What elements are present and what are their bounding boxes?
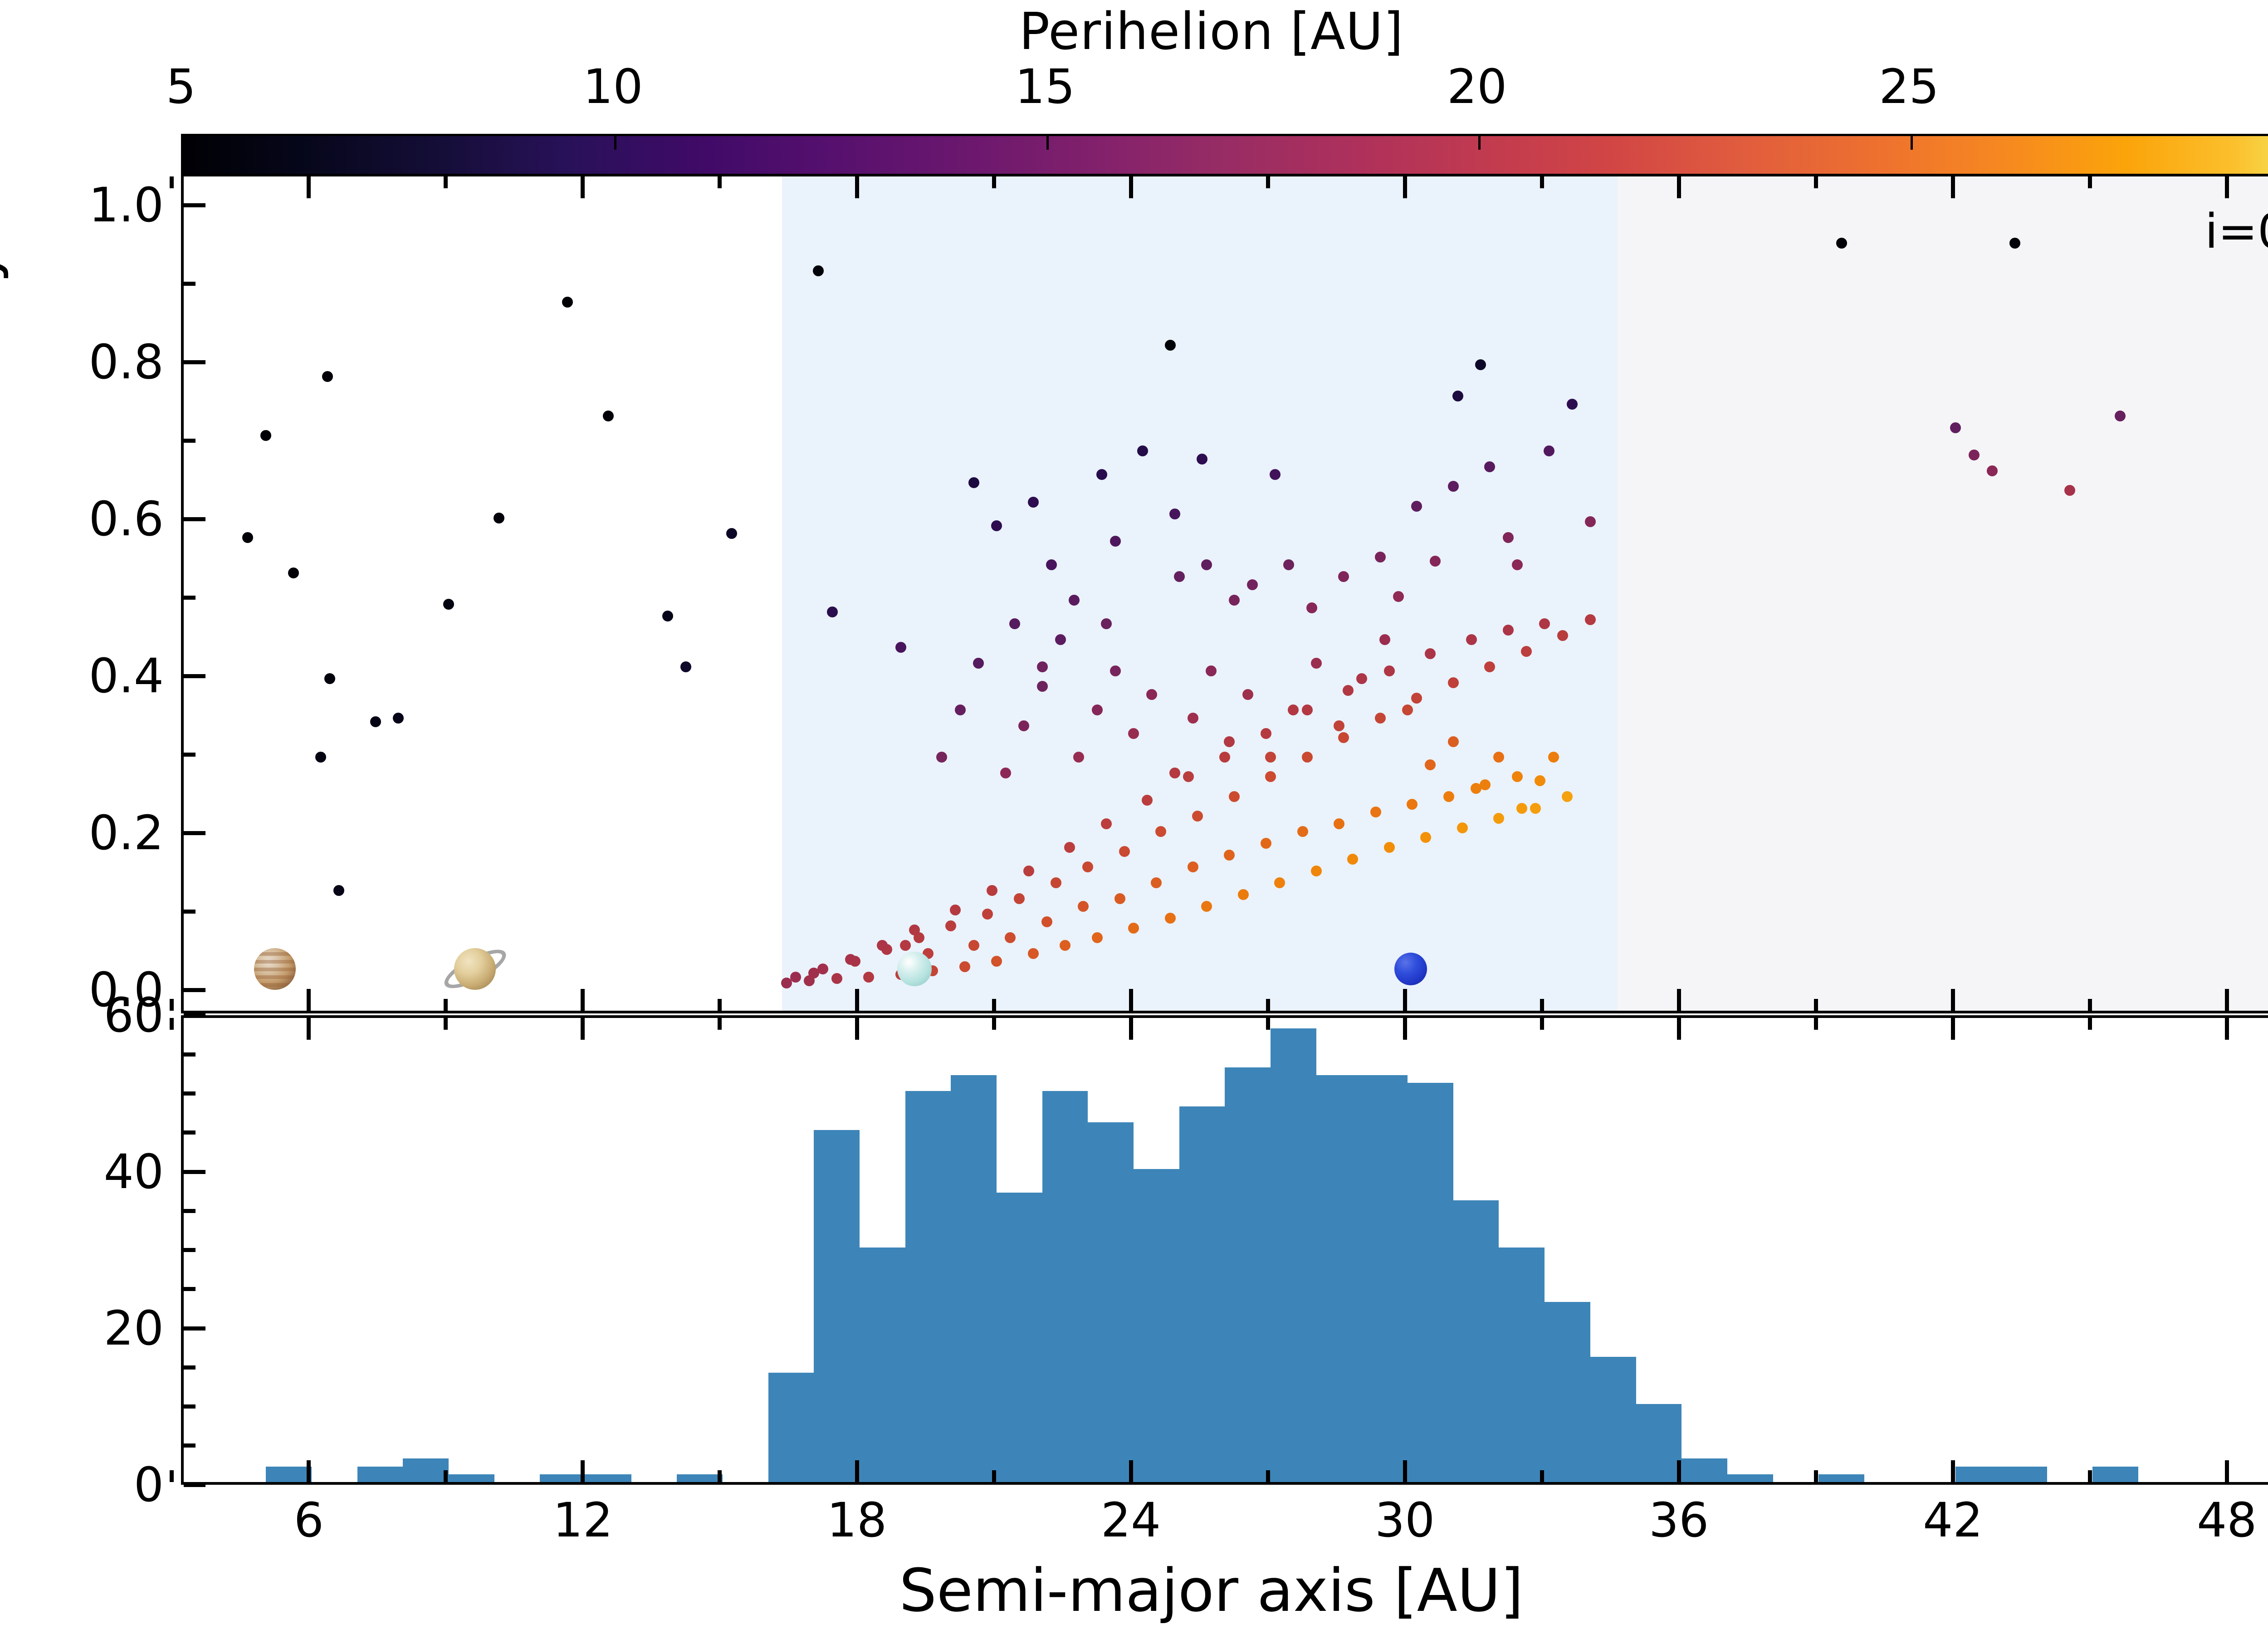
scatter-point [1165,340,1176,351]
scatter-point [1206,665,1217,676]
scatter-point [1092,704,1103,715]
tick-mark [1403,989,1407,1011]
tick-mark [1677,1460,1681,1482]
scatter-point [1169,509,1180,519]
scatter-point [1567,399,1578,410]
scatter-point [1261,838,1271,849]
scatter-point [1114,893,1125,904]
scatter-point [1023,866,1034,876]
xtick-label: 24 [1101,1492,1161,1548]
scatter-point [2064,485,2075,496]
histogram-bar [540,1474,586,1482]
tick-mark [307,176,311,198]
tick-mark [184,674,205,678]
scatter-point [562,297,573,308]
tick-mark [2088,1470,2092,1482]
histogram-bar [586,1474,631,1482]
scatter-point [1028,948,1039,959]
tick-mark [1540,999,1544,1011]
figure-root: Perihelion [AU] 51015202530 Eccentricity… [0,0,2268,1634]
scatter-point [1137,445,1148,456]
scatter-point [1411,501,1422,512]
scatter-point [1069,595,1080,606]
scatter-point [973,658,984,669]
histogram-bar [951,1075,997,1482]
histogram-bar [2001,1467,2047,1482]
histogram-bar [1134,1169,1179,1482]
histogram-bar [1225,1067,1271,1482]
scatter-point [1425,759,1436,770]
tick-mark [444,1470,448,1482]
scatter-point [1302,704,1313,715]
scatter-point [1562,791,1573,802]
tick-mark [992,1018,996,1030]
ytick-label-eccentricity: 0.6 [37,491,164,547]
scatter-point [895,642,906,653]
scatter-point [1334,720,1344,731]
scatter-point [1219,752,1230,763]
planet-icon-jupiter [254,948,296,990]
tick-mark [1540,176,1544,188]
scatter-point [1155,826,1166,837]
colorbar-tick-label: 15 [1015,59,1075,114]
colorbar-tick-label: 10 [583,59,643,114]
scatter-point [1146,689,1157,700]
colorbar-tick [614,136,616,150]
top-panel-ylabel: Eccentricity [0,248,10,595]
tick-mark [307,1018,311,1040]
scatter-point [324,673,335,684]
scatter-point [1055,634,1066,645]
histogram-bar [1042,1091,1088,1482]
scatter-point [322,371,333,382]
colorbar-tick [1911,136,1913,150]
tick-mark [184,910,196,914]
histogram-bar [1545,1302,1590,1482]
scatter-point [1343,685,1354,696]
scatter-point [1151,877,1162,888]
histogram-bars-layer [184,1018,2268,1482]
scatter-point [603,411,614,421]
scatter-point [781,978,792,988]
scatter-point [1064,842,1075,853]
ytick-label-eccentricity: 0.2 [37,805,164,861]
xtick-label: 42 [1923,1492,1983,1548]
tick-mark [718,1470,722,1482]
scatter-point [968,477,979,488]
scatter-point [1375,713,1386,724]
tick-mark [1814,1470,1818,1482]
scatter-point [1224,736,1235,747]
tick-mark [718,999,722,1011]
scatter-point [1051,877,1061,888]
scatter-point [1060,940,1070,951]
tick-mark [170,999,174,1011]
tick-mark [1266,176,1270,188]
histogram-bar [1271,1028,1316,1482]
tick-mark [184,1091,196,1096]
tick-mark [184,1326,205,1331]
scatter-point [393,713,404,724]
tick-mark [184,1483,205,1487]
tick-mark [718,176,722,188]
ytick-label-eccentricity: 1.0 [37,177,164,233]
scatter-point [1229,595,1240,606]
scatter-point [1512,559,1523,570]
scatter-point [1101,818,1112,829]
scatter-point [1037,661,1048,672]
scatter-point [680,661,691,672]
histogram-bar [1499,1248,1545,1482]
tick-mark [2088,999,2092,1011]
tick-mark [184,1052,196,1057]
scatter-point [813,265,824,276]
colorbar-gradient [183,136,2268,176]
xtick-label: 30 [1375,1492,1435,1548]
tick-mark [1951,989,1955,1011]
tick-mark [184,439,196,443]
histogram-bar [1362,1075,1408,1482]
tick-mark [1540,1018,1544,1030]
scatter-point [1229,791,1240,802]
histogram-bar [997,1193,1042,1482]
scatter-point [1101,618,1112,629]
histogram-bar [449,1474,494,1482]
tick-mark [1951,176,1955,198]
histogram-bar [1590,1357,1636,1482]
scatter-point [1165,913,1176,924]
scatter-point [831,973,842,984]
scatter-point [1334,818,1344,829]
tick-mark [2088,1018,2092,1030]
tick-mark [170,1470,174,1482]
scatter-point [1430,556,1441,567]
scatter-point [1393,591,1404,602]
tick-mark [1540,1470,1544,1482]
histogram-bar [1818,1474,1864,1482]
tick-mark [184,1365,196,1370]
scatter-point [1192,811,1203,822]
scatter-point [242,532,253,543]
scatter-point [1420,832,1431,843]
scatter-point [1443,791,1454,802]
scatter-point [1539,618,1550,629]
scatter-point [1384,665,1395,676]
scatter-point [863,972,874,983]
scatter-point [1503,532,1514,543]
tick-mark [1403,176,1407,198]
scatter-point [1466,634,1477,645]
tick-mark [1951,1018,1955,1040]
tick-mark [2225,1460,2229,1482]
scatter-point [662,611,673,621]
scatter-point [1457,822,1468,833]
scatter-point [1521,646,1532,657]
tick-mark [184,753,196,757]
scatter-point [991,956,1002,967]
scatter-point [1188,861,1198,872]
tick-mark [184,596,196,600]
scatter-point [1557,630,1568,641]
scatter-point [2115,411,2126,421]
tick-mark [1677,176,1681,198]
scatter-point [1297,826,1308,837]
scatter-point [1201,901,1212,912]
scatter-point [1261,728,1271,739]
xtick-label: 36 [1649,1492,1709,1548]
tick-mark [444,999,448,1011]
eccentricity-vs-semimajor-axis-panel: i=0° [181,174,2268,1013]
scatter-point [959,961,970,972]
histogram-bar [266,1467,312,1482]
scatter-point [1836,238,1847,249]
scatter-point [1119,846,1130,857]
scatter-point [1311,866,1322,876]
scatter-point [1448,481,1459,492]
histogram-bar [1179,1106,1225,1482]
scatter-point [1338,571,1349,582]
bottom-panel-ylabel: N [0,1262,10,1306]
scatter-point [1512,771,1523,782]
histogram-bar [2092,1467,2138,1482]
tick-mark [1814,176,1818,188]
xtick-label: 18 [827,1492,887,1548]
tick-mark [1129,1018,1133,1040]
colorbar-tick [1478,136,1481,150]
planet-disc [454,948,496,990]
scatter-point [1073,752,1084,763]
scatter-point [1110,536,1121,547]
scatter-point [1041,916,1052,927]
scatter-point [1082,861,1093,872]
ytick-label-count: 0 [37,1457,164,1512]
scatter-point [945,920,956,931]
scatter-point [1448,677,1459,688]
scatter-point [1046,559,1057,570]
ytick-label-count: 20 [37,1301,164,1356]
tick-mark [2225,989,2229,1011]
xtick-label: 6 [294,1492,324,1548]
scatter-point [1347,854,1358,865]
scatter-point [1174,571,1185,582]
tick-mark [1677,989,1681,1011]
scatter-point [1009,618,1020,629]
tick-mark [2225,1018,2229,1040]
scatter-point [1503,625,1514,636]
scatter-point [827,607,838,617]
scatter-point [987,885,997,896]
tick-mark [992,176,996,188]
scatter-point [845,954,856,965]
tick-mark [184,360,205,364]
tick-mark [1403,1018,1407,1040]
scatter-point [1028,497,1039,508]
tick-mark [581,989,585,1011]
scatter-point [991,520,1002,531]
planet-disc [1394,953,1427,985]
scatter-point [1535,775,1545,786]
scatter-point [1092,932,1103,943]
scatter-point [950,905,961,915]
tick-mark [307,989,311,1011]
colorbar-tick-labels: 51015202530 [0,59,2268,113]
scatter-point [726,528,737,539]
ytick-label-count: 60 [37,988,164,1043]
tick-mark [184,203,205,207]
tick-mark [1129,989,1133,1011]
tick-mark [1403,1460,1407,1482]
scatter-point [1078,901,1089,912]
planet-icon-saturn [454,948,496,990]
scatter-point [1480,779,1491,790]
planet-disc [897,952,932,986]
scatter-point [1384,842,1395,853]
scatter-point [370,716,381,727]
scatter-point [1306,602,1317,613]
tick-mark [170,176,174,188]
scatter-point [1544,445,1554,456]
histogram-bar [1316,1075,1362,1482]
scatter-point [1265,771,1276,782]
tick-mark [444,1018,448,1030]
tick-mark [1266,999,1270,1011]
scatter-point [1411,693,1422,704]
scatter-point [1311,658,1322,669]
tick-mark [184,1248,196,1252]
scatter-point [1516,803,1527,814]
tick-mark [581,1460,585,1482]
scatter-point [1270,469,1281,480]
colorbar-tick [1046,136,1049,150]
scatter-point [909,925,920,935]
scatter-point [1224,850,1235,861]
scatter-point [288,567,299,578]
scatter-point [1585,614,1596,625]
histogram-bar [814,1130,860,1482]
scatter-point [1188,713,1198,724]
tick-mark [184,1130,196,1135]
tick-mark [2088,176,2092,188]
histogram-bar [1955,1467,2001,1482]
scatter-point [955,704,966,715]
scatter-point [1425,648,1436,659]
tick-mark [170,1018,174,1030]
scatter-point [1128,923,1139,934]
colorbar-tick-label: 5 [166,59,196,114]
tick-mark [444,176,448,188]
scatter-point [1530,803,1541,814]
scatter-point [1037,681,1048,692]
scatter-point [1274,877,1285,888]
scatter-point [1987,465,1998,476]
scatter-point [1169,768,1180,778]
tick-mark [581,176,585,198]
tick-mark [855,176,859,198]
scatter-point [1005,932,1016,943]
colorbar-tick-label: 20 [1447,59,1507,114]
scatter-point [1128,728,1139,739]
histogram-bar [1088,1122,1134,1482]
scatter-point [2009,238,2020,249]
scatter-point [1484,661,1495,672]
xtick-label: 48 [2197,1492,2257,1548]
tick-mark [855,989,859,1011]
scatter-point [1302,752,1313,763]
scatter-point [790,972,801,983]
scatter-point [1238,889,1249,900]
tick-mark [855,1460,859,1482]
scatter-point [1484,461,1495,472]
tick-mark [581,1018,585,1040]
scatter-point [982,909,993,920]
scatter-point [1197,454,1207,465]
planet-icon-neptune [1394,953,1427,985]
scatter-point [1950,422,1961,433]
tick-mark [2225,176,2229,198]
histogram-bar [860,1248,905,1482]
tick-mark [184,1170,205,1174]
tick-mark [1129,1460,1133,1482]
tick-mark [992,1470,996,1482]
tick-mark [1677,1018,1681,1040]
histogram-bar [403,1458,449,1482]
scatter-point [1493,752,1504,763]
scatter-point [1548,752,1559,763]
tick-mark [184,831,205,835]
scatter-point [260,430,271,441]
ytick-label-eccentricity: 0.8 [37,334,164,390]
inclination-annotation: i=0° [2205,204,2268,259]
tick-mark [1266,1470,1270,1482]
scatter-point [1142,795,1153,806]
scatter-point [443,599,454,610]
scatter-point [1356,673,1367,684]
xtick-label: 12 [553,1492,613,1548]
tick-mark [1951,1460,1955,1482]
scatter-point [900,940,911,951]
scatter-point [1448,736,1459,747]
jupiter-bands [254,948,296,990]
tick-mark [1129,176,1133,198]
scatter-point [1283,559,1294,570]
tick-mark [184,1209,196,1213]
colorbar-tick-label: 25 [1879,59,1939,114]
scatter-point [1475,359,1486,370]
scatter-point [1018,720,1029,731]
scatter-point [1402,704,1413,715]
scatter-point [1585,516,1596,527]
colorbar-title: Perihelion [AU] [0,2,2268,61]
histogram-bar [905,1091,951,1482]
scatter-point [1375,552,1386,563]
tick-mark [1814,999,1818,1011]
tick-mark [1814,1018,1818,1030]
ytick-label-count: 40 [37,1144,164,1199]
histogram-bar [1636,1404,1682,1482]
histogram-bar [357,1467,403,1482]
scatter-point [1242,689,1253,700]
tick-mark [184,1013,205,1018]
tick-mark [184,1287,196,1291]
tick-mark [184,517,205,521]
histogram-bar [768,1373,814,1482]
scatter-point [1288,704,1299,715]
scatter-point [1247,579,1258,590]
scatter-point [1096,469,1107,480]
histogram-bar [1681,1458,1727,1482]
scatter-point [936,752,947,763]
tick-mark [1266,1018,1270,1030]
